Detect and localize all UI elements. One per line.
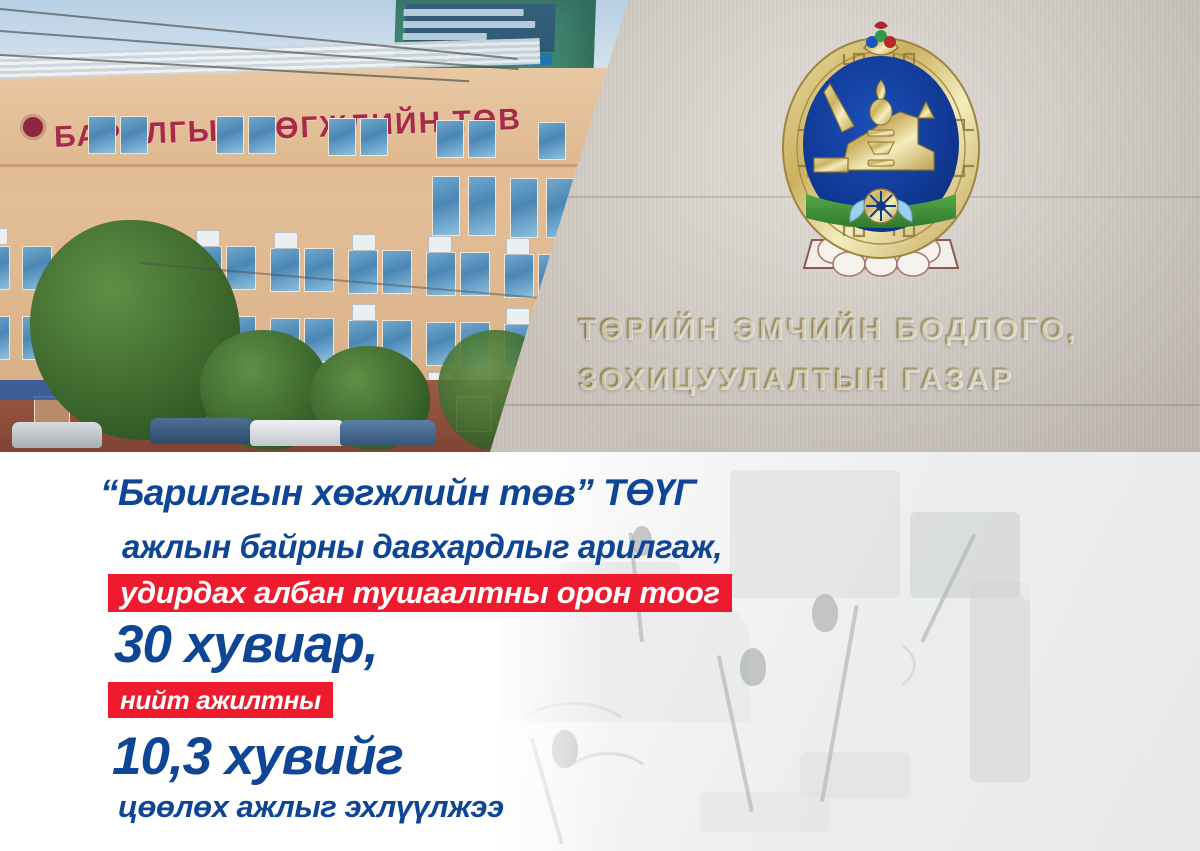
mongolian-state-emblem-icon	[768, 18, 994, 286]
wall-sign-line-1: ТӨРИЙН ЭМЧИЙН БОДЛОГО,	[578, 305, 1178, 355]
stat-line-2: 10,3 хувийг	[112, 726, 403, 787]
agency-wall-sign: ТӨРИЙН ЭМЧИЙН БОДЛОГО, ЗОХИЦУУЛАЛТЫН ГАЗ…	[578, 305, 1178, 405]
poster-root: БАРИЛГЫН ХӨГЖЛИЙН ТӨВ	[0, 0, 1200, 851]
headline-lines: “Барилгын хөгжлийн төв” ТӨҮГ ажлын байрн…	[0, 452, 1200, 851]
headline-line-last: цөөлөх ажлыг эхлүүлжээ	[118, 789, 504, 825]
car	[12, 422, 102, 448]
car	[340, 420, 436, 446]
car	[150, 418, 254, 444]
headline-line-1: “Барилгын хөгжлийн төв” ТӨҮГ	[100, 472, 696, 514]
stat-line-1: 30 хувиар,	[114, 614, 378, 675]
highlight-band-1: удирдах албан тушаалтны орон тоог	[108, 574, 732, 612]
top-photo-band: БАРИЛГЫН ХӨГЖЛИЙН ТӨВ	[0, 0, 1200, 452]
car	[250, 420, 346, 446]
headline-line-2: ажлын байрны давхардлыг арилгаж,	[122, 528, 722, 566]
highlight-band-2: нийт ажилтны	[108, 682, 333, 718]
headline-panel: “Барилгын хөгжлийн төв” ТӨҮГ ажлын байрн…	[0, 452, 1200, 851]
wall-sign-line-2: ЗОХИЦУУЛАЛТЫН ГАЗАР	[578, 355, 1178, 405]
